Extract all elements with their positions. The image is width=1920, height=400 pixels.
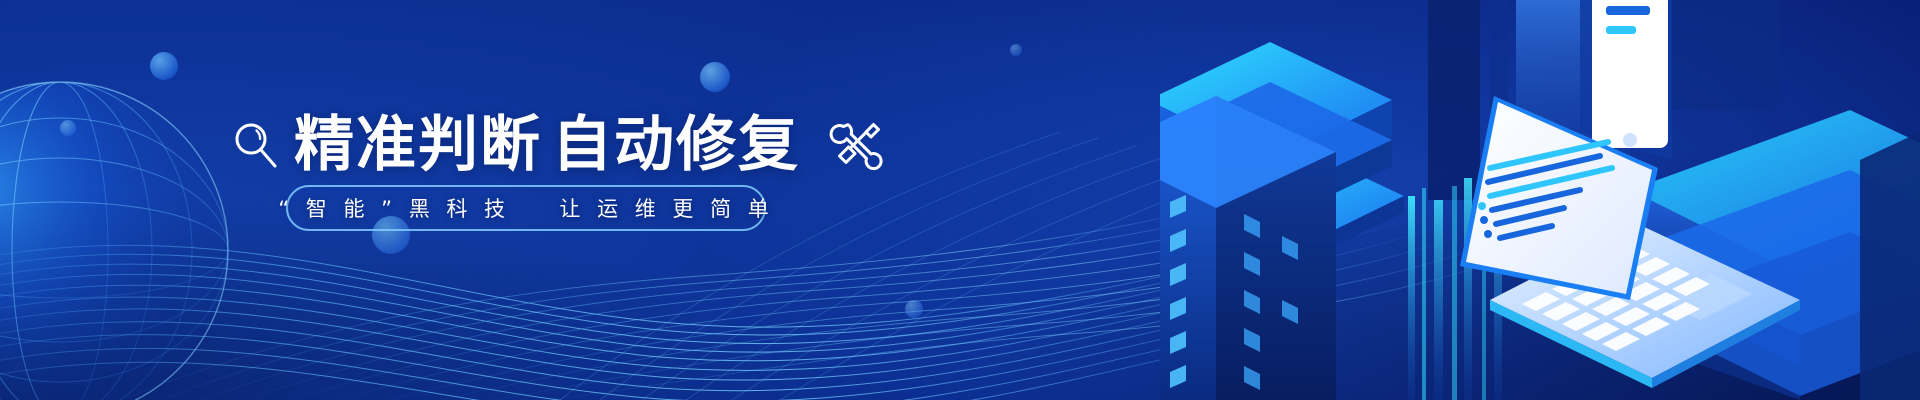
- magnifier-icon: [232, 120, 278, 170]
- subtitle-text: “ 智 能 ” 黑 科 技 让 运 维 更 简 单: [278, 193, 774, 223]
- headline-title: 精准判断自动修复: [294, 114, 800, 176]
- headline-part-2: 自动修复: [552, 110, 800, 180]
- subtitle-pill: “ 智 能 ” 黑 科 技 让 运 维 更 简 单: [286, 185, 766, 231]
- wrench-screwdriver-icon: [828, 116, 886, 174]
- document-card: [1580, 0, 1672, 160]
- isometric-tower: [1160, 42, 1404, 400]
- isometric-illustration: [1160, 0, 1920, 400]
- banner-copy: 精准判断自动修复 “ 智 能 ” 黑 科 技 让 运 维 更 简 单: [0, 0, 1020, 400]
- headline-part-1: 精准判断: [294, 110, 542, 180]
- foreground-slab: [1860, 132, 1920, 400]
- illustration-svg: [1160, 0, 1920, 400]
- headline-row: 精准判断自动修复: [232, 108, 886, 182]
- promo-banner: 精准判断自动修复 “ 智 能 ” 黑 科 技 让 运 维 更 简 单: [0, 0, 1920, 400]
